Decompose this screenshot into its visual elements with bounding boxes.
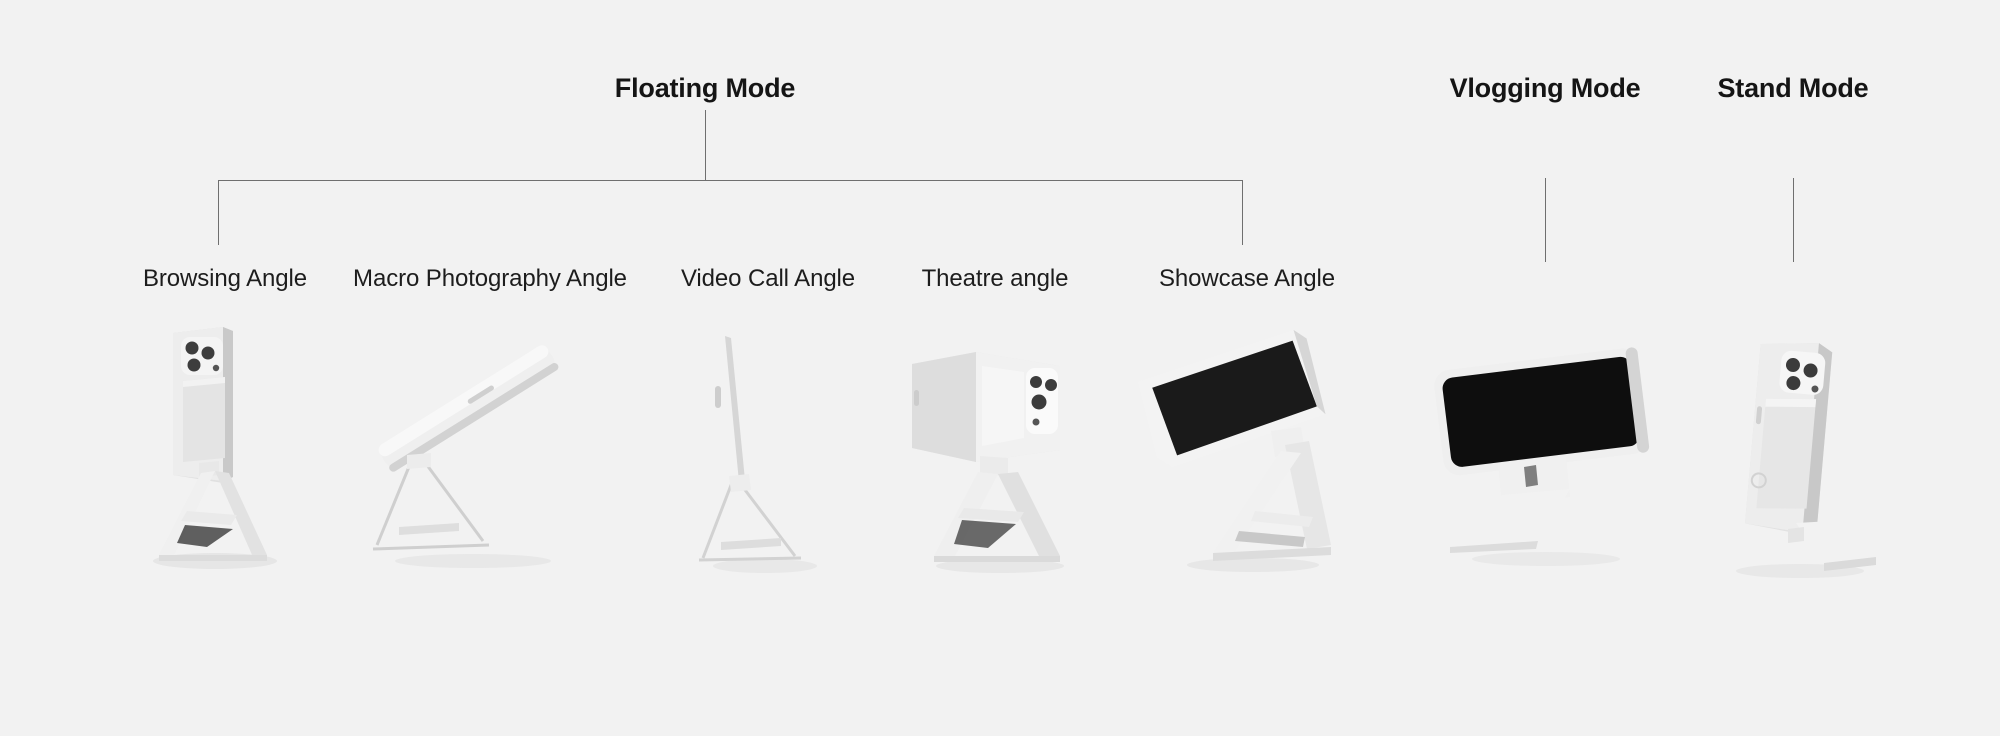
group-title-stand-mode: Stand Mode bbox=[1718, 73, 1869, 104]
stand-mode-render bbox=[1700, 335, 1900, 585]
angle-label-theatre: Theatre angle bbox=[922, 265, 1069, 293]
group-title-floating-mode: Floating Mode bbox=[615, 73, 795, 104]
browsing-angle-render bbox=[115, 325, 315, 575]
angle-label-showcase: Showcase Angle bbox=[1159, 265, 1335, 293]
bracket-left-drop bbox=[218, 180, 219, 245]
stand-mode-stem bbox=[1793, 178, 1794, 262]
vlogging-mode-render bbox=[1420, 345, 1670, 570]
bracket-right-drop bbox=[1242, 180, 1243, 245]
angle-label-browsing: Browsing Angle bbox=[143, 265, 307, 293]
vlogging-mode-stem bbox=[1545, 178, 1546, 262]
bracket-horizontal-bar bbox=[218, 180, 1242, 181]
group-title-vlogging-mode: Vlogging Mode bbox=[1450, 73, 1641, 104]
video-call-angle-render bbox=[677, 330, 847, 580]
bracket-center-stem bbox=[705, 110, 706, 180]
angle-label-macro-photography: Macro Photography Angle bbox=[353, 265, 627, 293]
showcase-angle-render bbox=[1135, 335, 1365, 580]
theatre-angle-render bbox=[890, 340, 1110, 580]
macro-photography-angle-render bbox=[355, 345, 585, 575]
angle-label-video-call: Video Call Angle bbox=[681, 265, 855, 293]
mode-comparison-diagram: Floating Mode Vlogging Mode Stand Mode B… bbox=[0, 0, 2000, 736]
